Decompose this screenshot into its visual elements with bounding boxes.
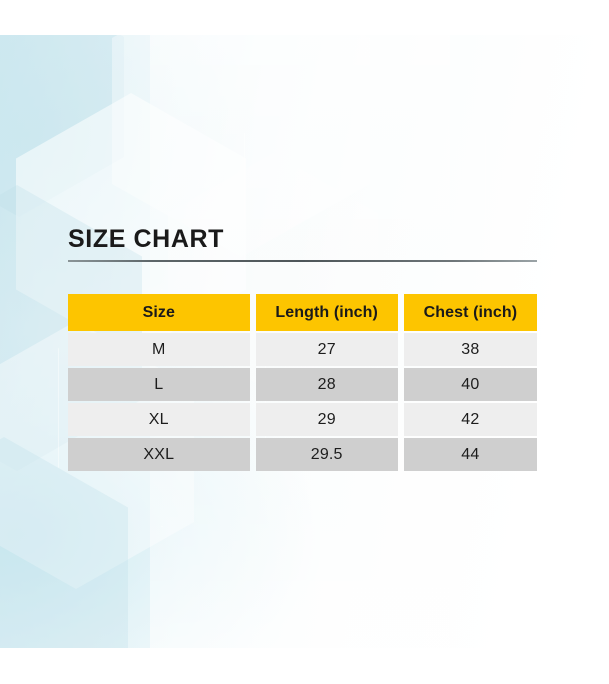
- column-header-chest: Chest (inch): [404, 294, 537, 331]
- size-chart-table: Size Length (inch) Chest (inch) M 27 38 …: [62, 292, 543, 473]
- cell-size: M: [68, 333, 250, 366]
- title-divider: [68, 260, 537, 262]
- table-body: M 27 38 L 28 40 XL 29 42 XXL 29.5 44: [68, 333, 537, 471]
- table-row: M 27 38: [68, 333, 537, 366]
- cell-size: L: [68, 368, 250, 401]
- table-row: XXL 29.5 44: [68, 438, 537, 471]
- cell-size: XXL: [68, 438, 250, 471]
- table-header: Size Length (inch) Chest (inch): [68, 294, 537, 331]
- page-title: SIZE CHART: [68, 224, 537, 254]
- bottom-margin-band: [0, 648, 609, 684]
- column-header-size: Size: [68, 294, 250, 331]
- table-row: XL 29 42: [68, 403, 537, 436]
- table-row: L 28 40: [68, 368, 537, 401]
- cell-chest: 38: [404, 333, 537, 366]
- cell-chest: 42: [404, 403, 537, 436]
- cell-length: 28: [256, 368, 398, 401]
- top-margin-band: [0, 0, 609, 35]
- cell-size: XL: [68, 403, 250, 436]
- cell-chest: 44: [404, 438, 537, 471]
- cell-length: 27: [256, 333, 398, 366]
- cell-chest: 40: [404, 368, 537, 401]
- cell-length: 29.5: [256, 438, 398, 471]
- content-area: SIZE CHART Size Length (inch) Chest (inc…: [68, 224, 537, 473]
- cell-length: 29: [256, 403, 398, 436]
- table-header-row: Size Length (inch) Chest (inch): [68, 294, 537, 331]
- column-header-length: Length (inch): [256, 294, 398, 331]
- size-chart-page: SIZE CHART Size Length (inch) Chest (inc…: [0, 0, 609, 684]
